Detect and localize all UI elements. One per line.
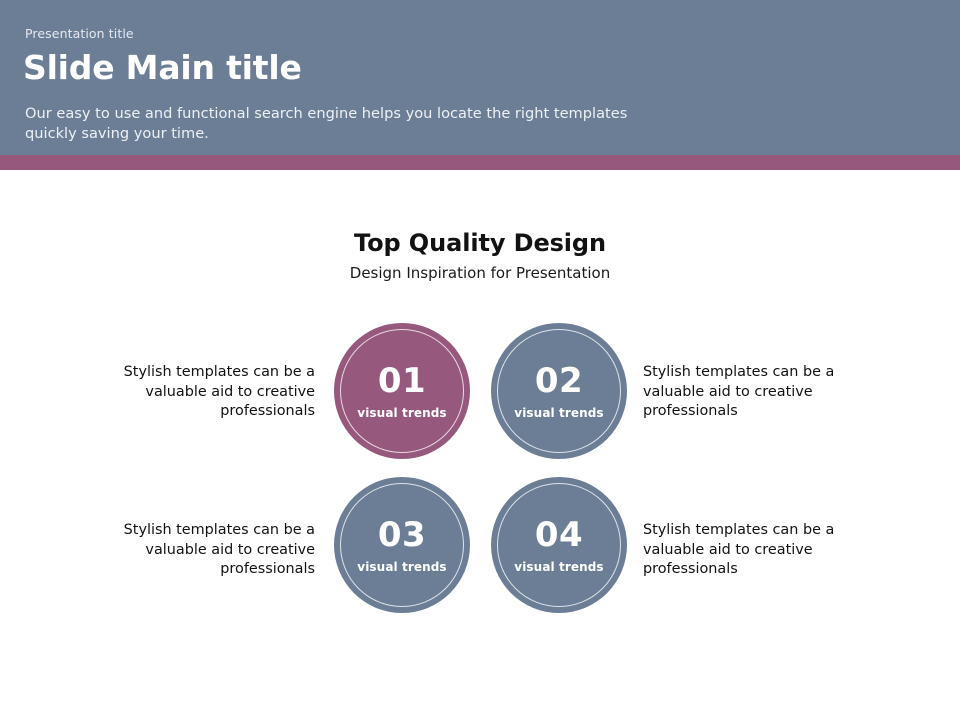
circle-item-02[interactable]: 02 visual trends [491,323,627,459]
circle-item-01[interactable]: 01 visual trends [334,323,470,459]
circle-number-02: 02 [535,364,583,398]
circle-number-04: 04 [535,518,583,552]
section-subtitle: Design Inspiration for Presentation [0,264,960,282]
description-04: Stylish templates can be a valuable aid … [643,521,837,580]
presentation-slide: Presentation title Slide Main title Our … [0,0,960,720]
circle-item-03[interactable]: 03 visual trends [334,477,470,613]
slide-header-band: Presentation title Slide Main title Our … [0,0,960,155]
description-03: Stylish templates can be a valuable aid … [121,521,315,580]
circle-number-03: 03 [378,518,426,552]
circle-number-01: 01 [378,364,426,398]
circle-caption-01: visual trends [357,407,446,419]
description-01: Stylish templates can be a valuable aid … [121,363,315,422]
presentation-title-eyebrow: Presentation title [25,26,134,41]
section-title: Top Quality Design [0,229,960,257]
circle-item-04[interactable]: 04 visual trends [491,477,627,613]
circle-caption-04: visual trends [514,561,603,573]
circle-caption-03: visual trends [357,561,446,573]
slide-header-description: Our easy to use and functional search en… [25,104,645,144]
header-accent-strip [0,155,960,170]
circle-caption-02: visual trends [514,407,603,419]
slide-main-title: Slide Main title [23,48,302,87]
description-02: Stylish templates can be a valuable aid … [643,363,837,422]
